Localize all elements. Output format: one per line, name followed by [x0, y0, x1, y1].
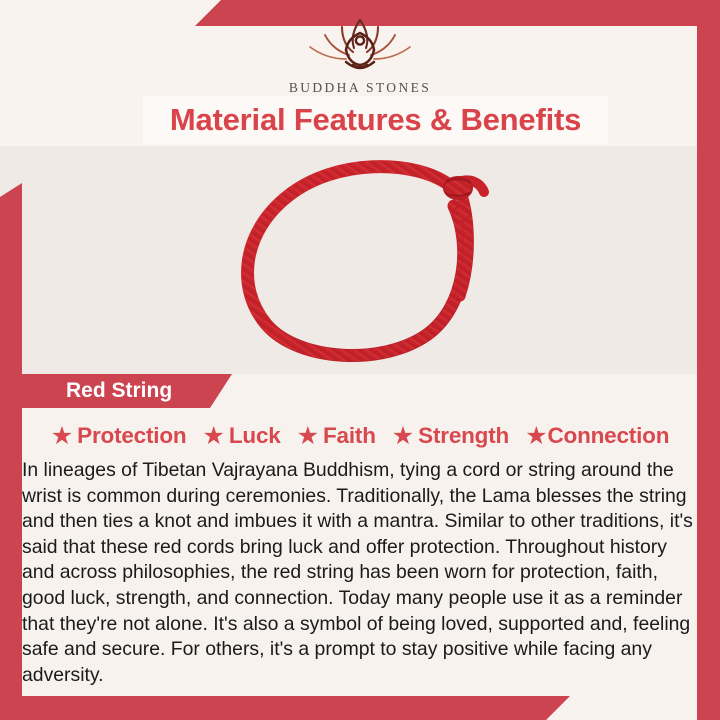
description-paragraph: In lineages of Tibetan Vajrayana Buddhis… [22, 458, 696, 688]
star-icon: ★ [297, 424, 319, 449]
brand-wordmark: BUDDHA STONES [0, 80, 720, 96]
benefit-label: Faith [323, 423, 376, 449]
benefit-item-strength: ★ Strength [392, 423, 509, 449]
star-icon: ★ [202, 424, 224, 449]
red-string-bracelet-image [218, 148, 508, 370]
benefits-list: ★ Protection ★ Luck ★ Faith ★ Strength ★… [22, 418, 698, 454]
benefit-label: Connection [548, 423, 670, 449]
page-title: Material Features & Benefits [170, 102, 581, 138]
title-banner: Material Features & Benefits [143, 96, 608, 144]
benefit-item-protection: ★ Protection [51, 423, 187, 449]
product-name-ribbon: Red String [22, 374, 232, 408]
product-name-label: Red String [22, 379, 172, 403]
benefit-label: Protection [77, 423, 186, 449]
star-icon: ★ [525, 424, 547, 449]
product-photo [0, 146, 720, 374]
brand-logo: BUDDHA STONES [0, 16, 720, 96]
frame-bottom-bar [0, 696, 570, 720]
benefit-item-connection: ★ Connection [525, 423, 669, 449]
benefit-label: Strength [418, 423, 509, 449]
star-icon: ★ [51, 424, 73, 449]
star-icon: ★ [392, 424, 414, 449]
benefit-item-luck: ★ Luck [202, 423, 280, 449]
frame-left-bar [0, 183, 22, 720]
lotus-meditation-icon [301, 16, 419, 76]
benefit-label: Luck [229, 423, 281, 449]
frame-right-bar [697, 0, 720, 720]
product-info-poster: BUDDHA STONES Material Features & Benefi… [0, 0, 720, 720]
benefit-item-faith: ★ Faith [297, 423, 376, 449]
